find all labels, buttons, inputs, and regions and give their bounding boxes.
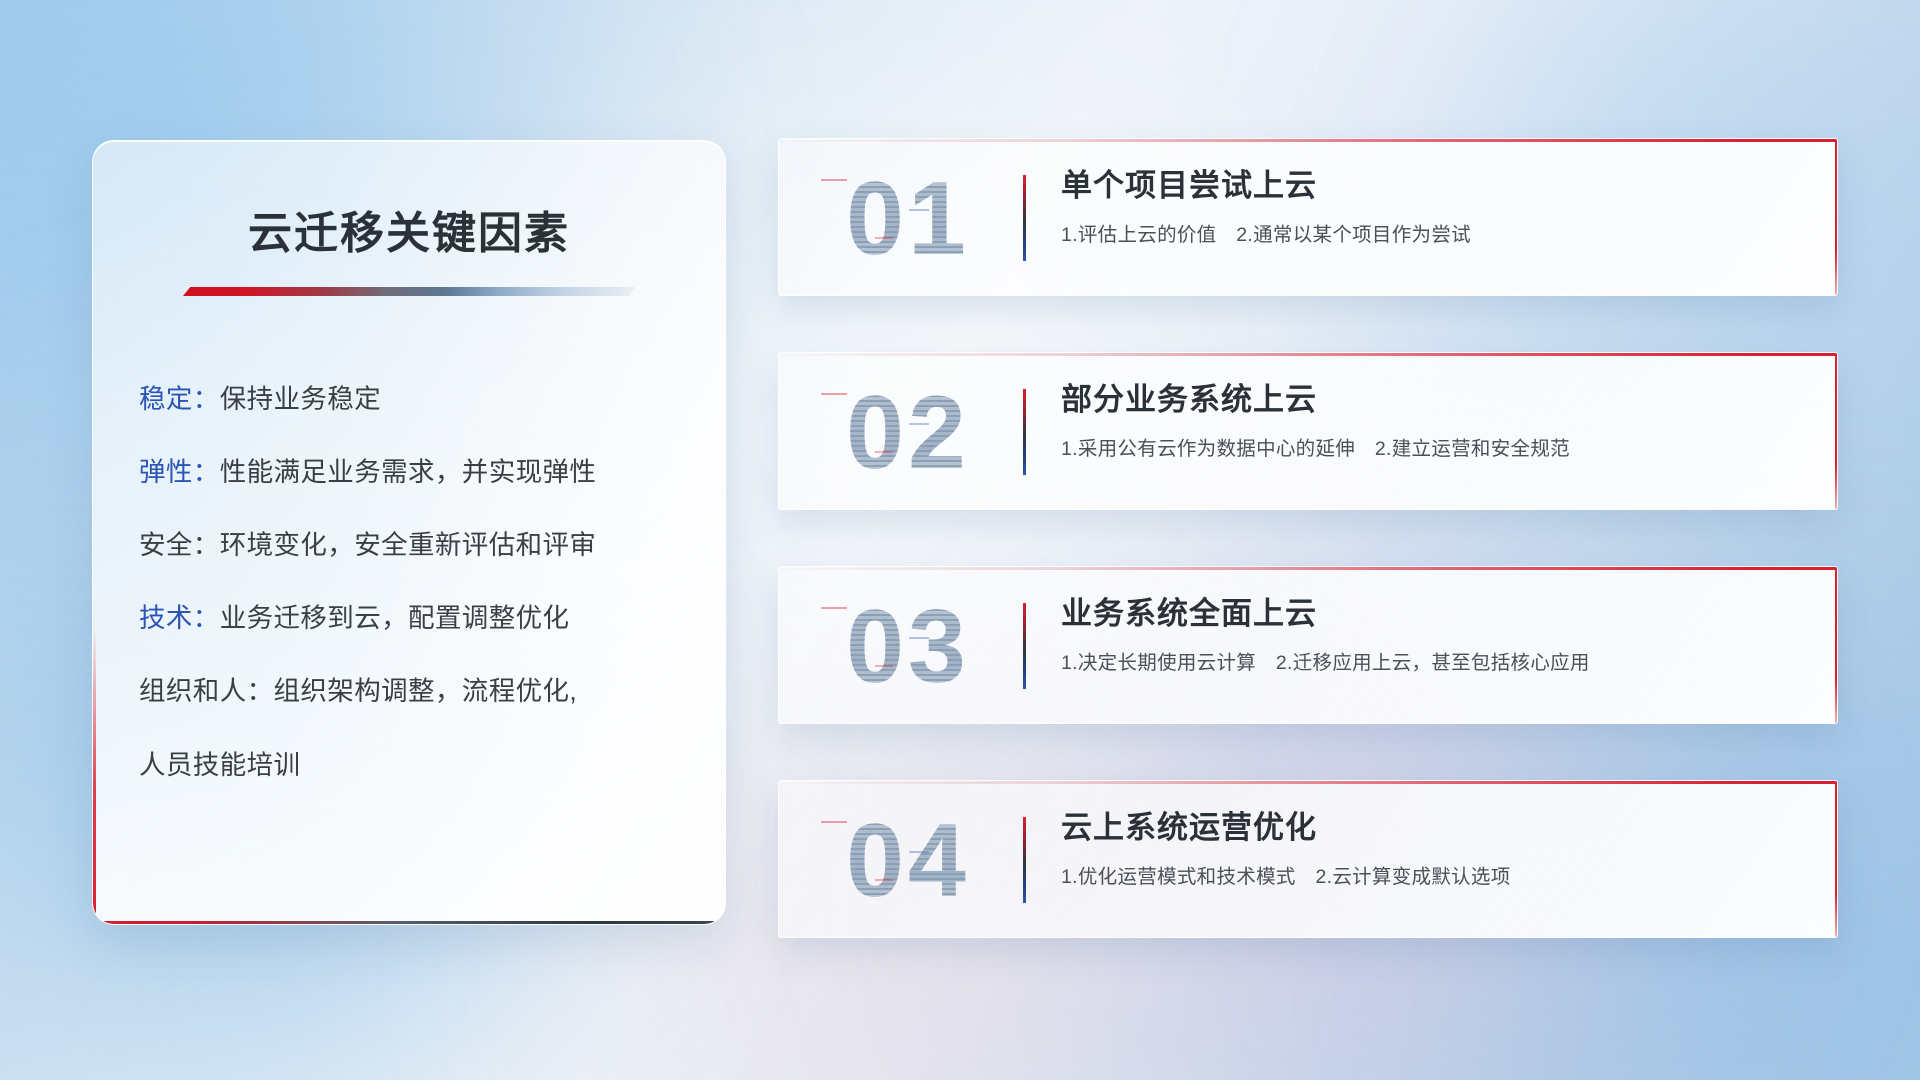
- step-number-watermark: 03: [813, 573, 1003, 721]
- step-divider-bar: [1023, 175, 1026, 261]
- step-title: 单个项目尝试上云: [1061, 167, 1797, 206]
- factor-label: 弹性：: [139, 457, 220, 487]
- card-right-accent-bar: [1835, 567, 1838, 723]
- title-underline-rule: [183, 287, 635, 296]
- step-number-watermark: 02: [813, 359, 1003, 507]
- card-top-accent-bar: [779, 139, 1837, 142]
- step-title: 部分业务系统上云: [1061, 381, 1797, 420]
- factor-label: 稳定：: [139, 384, 220, 414]
- step-title: 业务系统全面上云: [1061, 595, 1797, 634]
- factor-label: 组织和人：: [139, 676, 274, 706]
- factor-row: 安全：环境变化，安全重新评估和评审: [139, 528, 685, 563]
- step-title: 云上系统运营优化: [1061, 809, 1797, 848]
- step-number-watermark: 04: [813, 787, 1003, 935]
- slide-stage: 云迁移关键因素 稳定：保持业务稳定 弹性：性能满足业务需求，并实现弹性 安全：环…: [0, 0, 1920, 1080]
- step-card[interactable]: 01 单个项目尝试上云 1.评估上云的价值 2.通常以某个项目作为尝试: [778, 138, 1838, 296]
- factor-label: 技术：: [139, 603, 220, 633]
- card-top-accent-bar: [779, 353, 1837, 356]
- card-right-accent-bar: [1835, 781, 1838, 937]
- panel-left-accent-bar: [93, 626, 96, 924]
- card-right-accent-bar: [1835, 353, 1838, 509]
- step-body: 单个项目尝试上云 1.评估上云的价值 2.通常以某个项目作为尝试: [1061, 167, 1797, 248]
- panel-title: 云迁移关键因素: [93, 197, 725, 261]
- card-top-accent-bar: [779, 567, 1837, 570]
- step-description: 1.采用公有云作为数据中心的延伸 2.建立运营和安全规范: [1061, 436, 1797, 462]
- factor-row: 稳定：保持业务稳定: [139, 382, 685, 417]
- factor-value: 保持业务稳定: [220, 384, 381, 414]
- card-right-accent-bar: [1835, 139, 1838, 295]
- step-card[interactable]: 03 业务系统全面上云 1.决定长期使用云计算 2.迁移应用上云，甚至包括核心应…: [778, 566, 1838, 724]
- panel-bottom-accent-bar: [93, 921, 725, 924]
- step-body: 云上系统运营优化 1.优化运营模式和技术模式 2.云计算变成默认选项: [1061, 809, 1797, 890]
- step-divider-bar: [1023, 603, 1026, 689]
- step-description: 1.评估上云的价值 2.通常以某个项目作为尝试: [1061, 222, 1797, 248]
- step-card[interactable]: 02 部分业务系统上云 1.采用公有云作为数据中心的延伸 2.建立运营和安全规范: [778, 352, 1838, 510]
- step-description: 1.决定长期使用云计算 2.迁移应用上云，甚至包括核心应用: [1061, 650, 1797, 676]
- factor-continuation-line: 人员技能培训: [139, 743, 685, 782]
- step-card[interactable]: 04 云上系统运营优化 1.优化运营模式和技术模式 2.云计算变成默认选项: [778, 780, 1838, 938]
- step-number-watermark: 01: [813, 145, 1003, 293]
- card-top-accent-bar: [779, 781, 1837, 784]
- key-factors-panel: 云迁移关键因素 稳定：保持业务稳定 弹性：性能满足业务需求，并实现弹性 安全：环…: [92, 140, 726, 925]
- step-description: 1.优化运营模式和技术模式 2.云计算变成默认选项: [1061, 864, 1797, 890]
- factor-value: 性能满足业务需求，并实现弹性: [220, 457, 597, 487]
- factor-row: 技术：业务迁移到云，配置调整优化: [139, 601, 685, 636]
- factor-list: 稳定：保持业务稳定 弹性：性能满足业务需求，并实现弹性 安全：环境变化，安全重新…: [93, 382, 725, 782]
- factor-row: 组织和人：组织架构调整，流程优化,: [139, 674, 685, 709]
- step-divider-bar: [1023, 389, 1026, 475]
- step-body: 业务系统全面上云 1.决定长期使用云计算 2.迁移应用上云，甚至包括核心应用: [1061, 595, 1797, 676]
- factor-value: 业务迁移到云，配置调整优化: [220, 603, 570, 633]
- factor-value: 环境变化，安全重新评估和评审: [220, 530, 597, 560]
- factor-value: 组织架构调整，流程优化,: [274, 676, 578, 706]
- step-body: 部分业务系统上云 1.采用公有云作为数据中心的延伸 2.建立运营和安全规范: [1061, 381, 1797, 462]
- step-divider-bar: [1023, 817, 1026, 903]
- migration-steps-list: 01 单个项目尝试上云 1.评估上云的价值 2.通常以某个项目作为尝试 02 部…: [778, 138, 1838, 994]
- factor-label: 安全：: [139, 530, 220, 560]
- factor-row: 弹性：性能满足业务需求，并实现弹性: [139, 455, 685, 490]
